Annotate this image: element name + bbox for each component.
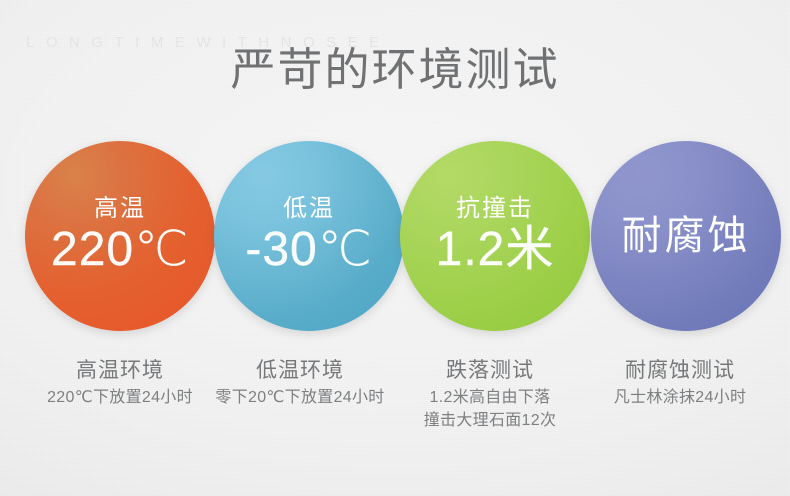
circle-label: 耐腐蚀 [622, 214, 751, 258]
caption-corrosion-resistance: 耐腐蚀测试 凡士林涂抹24小时 [570, 356, 790, 409]
caption-title: 耐腐蚀测试 [570, 356, 790, 386]
caption-line: 凡士林涂抹24小时 [570, 386, 790, 409]
circle-value: 220℃ [51, 224, 189, 276]
page-title: 严苛的环境测试 [0, 42, 790, 98]
caption-line: 撞击大理石面12次 [380, 409, 600, 432]
circle-label: 低温 [283, 196, 335, 222]
circle-value: 1.2米 [436, 224, 555, 276]
promo-banner: LONGTIMEWITHNOSEE 严苛的环境测试 高温 220℃ 低温 -30… [0, 0, 790, 496]
caption-impact-resistance: 跌落测试 1.2米高自由下落 撞击大理石面12次 [380, 356, 600, 432]
caption-title: 跌落测试 [380, 356, 600, 386]
circle-label: 抗撞击 [456, 196, 534, 222]
test-circle-impact-resistance: 抗撞击 1.2米 [400, 141, 590, 331]
caption-title: 低温环境 [190, 356, 410, 386]
circle-value: -30℃ [245, 224, 372, 276]
caption-line: 1.2米高自由下落 [380, 386, 600, 409]
test-circles-row: 高温 220℃ 低温 -30℃ 抗撞击 1.2米 耐腐蚀 [0, 141, 790, 333]
test-circle-high-temperature: 高温 220℃ [25, 141, 215, 331]
circle-label: 高温 [94, 196, 146, 222]
caption-line: 零下20℃下放置24小时 [190, 386, 410, 409]
caption-low-temperature: 低温环境 零下20℃下放置24小时 [190, 356, 410, 409]
test-circle-low-temperature: 低温 -30℃ [214, 141, 404, 331]
test-captions-row: 高温环境 220℃下放置24小时 低温环境 零下20℃下放置24小时 跌落测试 … [0, 356, 790, 466]
test-circle-corrosion-resistance: 耐腐蚀 [591, 141, 781, 331]
